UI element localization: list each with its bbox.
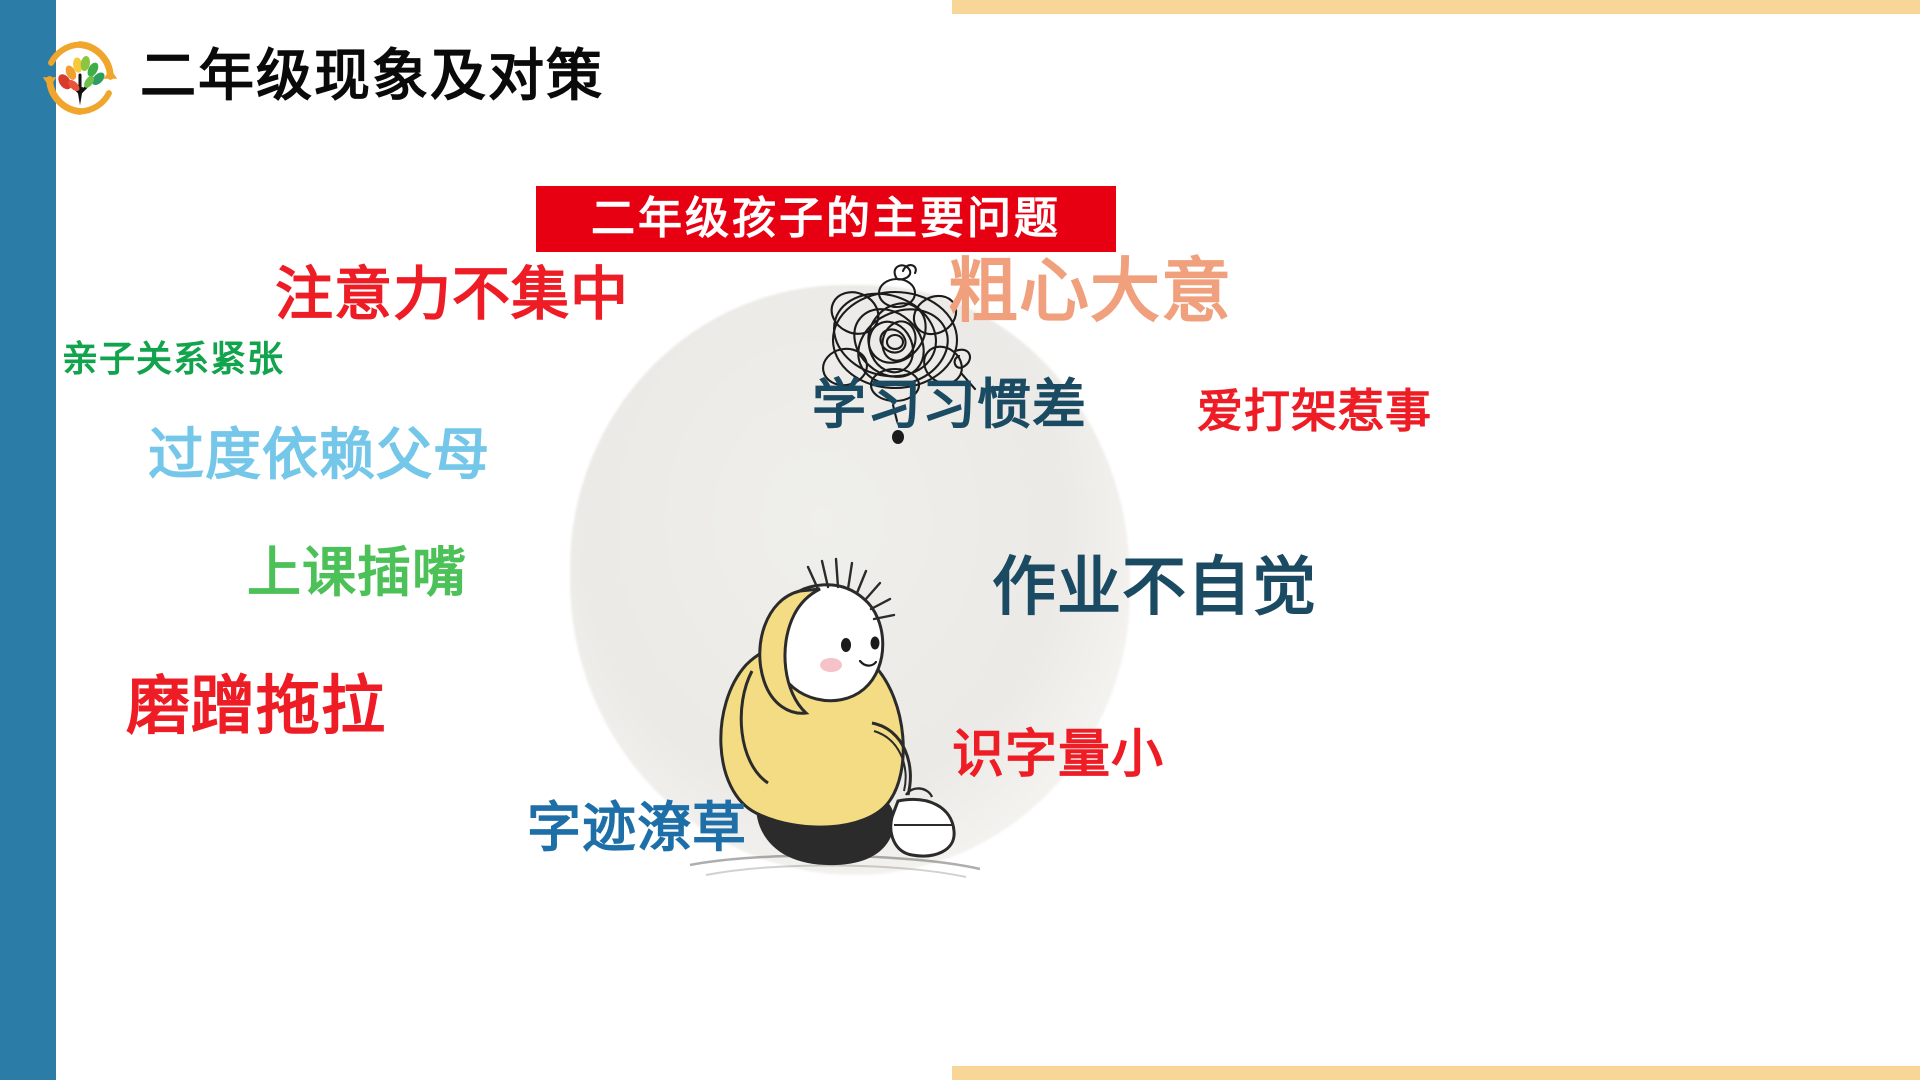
- word-interrupting: 上课插嘴: [247, 528, 467, 607]
- slide-root: 二年级现象及对策: [0, 0, 1920, 1080]
- main-question-banner-text: 二年级孩子的主要问题: [536, 186, 1116, 252]
- slide-header: 二年级现象及对策: [0, 0, 1920, 140]
- word-fighting: 爱打架惹事: [1197, 375, 1432, 441]
- word-homework-unaware: 作业不自觉: [992, 536, 1317, 628]
- word-parentchild-tension: 亲子关系紧张: [62, 330, 284, 382]
- word-notattentive: 注意力不集中: [275, 247, 629, 331]
- word-overdependent: 过度依赖父母: [148, 410, 490, 491]
- word-small-vocab: 识字量小: [952, 712, 1164, 787]
- word-sloppy-writing: 字迹潦草: [527, 783, 747, 862]
- main-question-banner: 二年级孩子的主要问题: [536, 186, 1116, 252]
- tree-logo-icon: [42, 40, 118, 116]
- page-title: 二年级现象及对策: [140, 36, 604, 116]
- word-dawdling: 磨蹭拖拉: [126, 655, 386, 747]
- left-accent-bar: [0, 0, 56, 1080]
- word-poor-habits: 学习习惯差: [812, 360, 1087, 439]
